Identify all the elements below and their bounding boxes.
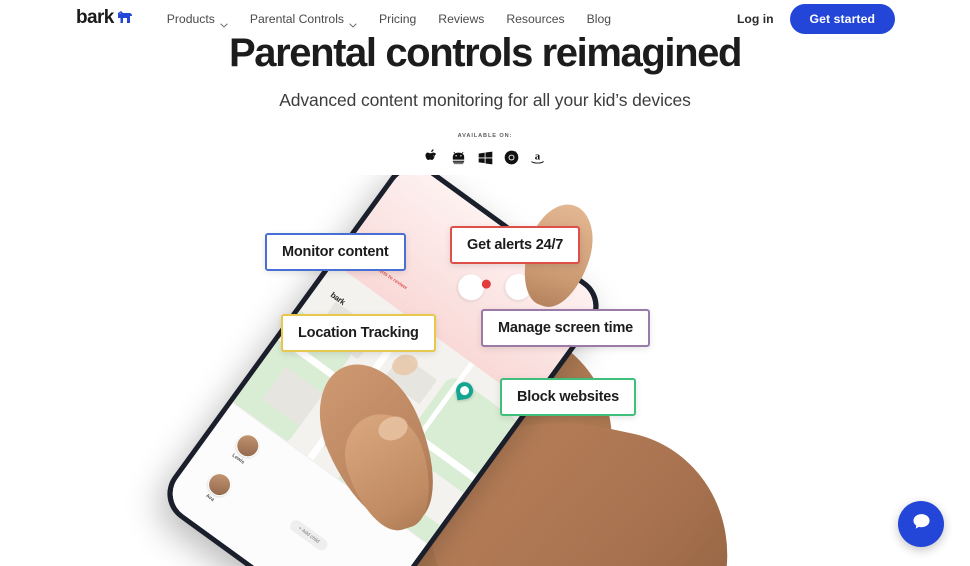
nav-actions: Log in Get started (737, 4, 895, 34)
child-item[interactable]: Ava (199, 469, 236, 508)
svg-text:a: a (535, 151, 541, 163)
nav-item-reviews[interactable]: Reviews (427, 8, 495, 30)
page-subtitle: Advanced content monitoring for all your… (0, 90, 970, 111)
nav-item-parental-controls[interactable]: Parental Controls (239, 8, 368, 30)
nav-item-resources[interactable]: Resources (495, 8, 575, 30)
brand-wordmark: bark (76, 8, 114, 27)
windows-icon (478, 143, 493, 165)
page-root: bark Products Parental Controls (0, 0, 970, 566)
alert-indicator (453, 269, 489, 305)
callout-location-tracking: Location Tracking (281, 314, 436, 352)
page-title: Parental controls reimagined (0, 31, 970, 76)
callout-get-alerts: Get alerts 24/7 (450, 226, 580, 264)
chat-widget-button[interactable] (898, 501, 944, 547)
nav-item-blog[interactable]: Blog (576, 8, 622, 30)
child-item[interactable]: Lewis (227, 430, 264, 469)
main-navbar: bark Products Parental Controls (0, 0, 970, 37)
bark-dog-logo-icon (117, 9, 133, 24)
android-icon (450, 143, 467, 165)
available-on-label: AVAILABLE ON: (0, 133, 970, 139)
chevron-down-icon (349, 17, 357, 22)
platform-icons-row: a (0, 143, 970, 165)
nav-item-label: Parental Controls (250, 12, 344, 26)
nav-links: Products Parental Controls Pricing Revie… (156, 8, 622, 30)
nav-item-label: Products (167, 12, 215, 26)
brand-logo[interactable]: bark (76, 8, 133, 30)
chevron-down-icon (220, 17, 228, 22)
chat-bubble-icon (911, 511, 932, 537)
apple-icon (425, 143, 439, 165)
callout-monitor-content: Monitor content (265, 233, 406, 271)
nav-item-products[interactable]: Products (156, 8, 239, 30)
nav-item-pricing[interactable]: Pricing (368, 8, 427, 30)
add-child-button[interactable]: + Add child (288, 518, 330, 553)
callout-manage-screen-time: Manage screen time (481, 309, 650, 347)
callout-block-websites: Block websites (500, 378, 636, 416)
available-on-section: AVAILABLE ON: (0, 133, 970, 165)
get-started-button[interactable]: Get started (790, 4, 895, 34)
login-link[interactable]: Log in (737, 12, 774, 26)
chrome-icon (504, 143, 519, 165)
amazon-icon: a (530, 143, 545, 165)
